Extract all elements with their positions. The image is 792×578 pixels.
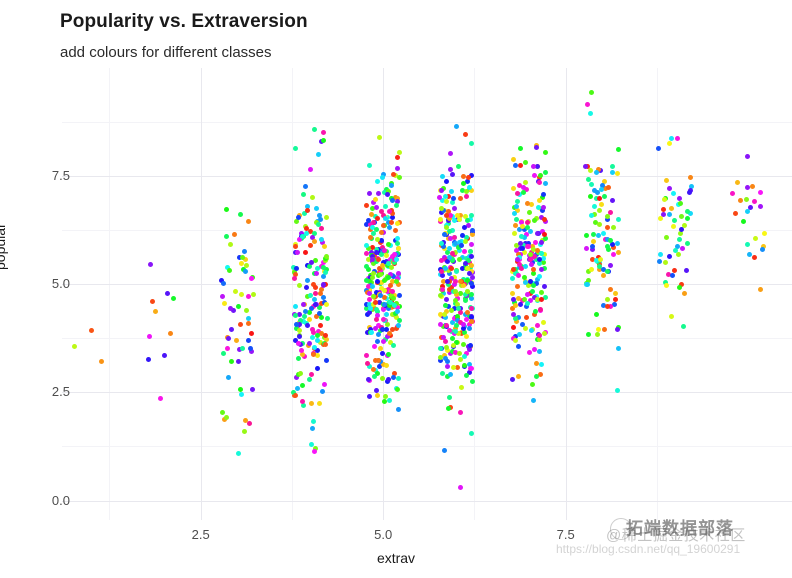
scatter-point — [324, 215, 329, 220]
scatter-point — [510, 291, 515, 296]
scatter-point — [664, 283, 669, 288]
scatter-point — [303, 250, 308, 255]
scatter-point — [543, 181, 548, 186]
scatter-point — [377, 135, 382, 140]
scatter-point — [298, 371, 303, 376]
scatter-point — [613, 291, 618, 296]
scatter-point — [307, 377, 312, 382]
scatter-point — [753, 236, 758, 241]
scatter-point — [610, 164, 615, 169]
scatter-point — [525, 301, 530, 306]
scatter-point — [397, 293, 402, 298]
scatter-point — [382, 288, 387, 293]
scatter-point — [445, 279, 450, 284]
scatter-point — [469, 431, 474, 436]
scatter-point — [758, 287, 763, 292]
scatter-point — [592, 188, 597, 193]
scatter-point — [324, 302, 329, 307]
scatter-point — [454, 269, 459, 274]
scatter-point — [605, 269, 610, 274]
scatter-point — [588, 194, 593, 199]
scatter-point — [608, 287, 613, 292]
scatter-point — [322, 244, 327, 249]
scatter-point — [238, 322, 243, 327]
scatter-point — [606, 185, 611, 190]
scatter-point — [376, 332, 381, 337]
scatter-point — [313, 291, 318, 296]
scatter-point — [388, 300, 393, 305]
scatter-point — [380, 175, 385, 180]
scatter-point — [459, 385, 464, 390]
scatter-point — [516, 374, 521, 379]
scatter-point — [317, 401, 322, 406]
scatter-point — [372, 374, 377, 379]
scatter-point — [524, 315, 529, 320]
scatter-point — [368, 306, 373, 311]
scatter-point — [309, 260, 314, 265]
scatter-point — [531, 283, 536, 288]
scatter-point — [384, 312, 389, 317]
scatter-point — [525, 244, 530, 249]
scatter-point — [386, 377, 391, 382]
scatter-point — [521, 185, 526, 190]
scatter-point — [672, 218, 677, 223]
scatter-point — [313, 302, 318, 307]
scatter-point — [616, 346, 621, 351]
scatter-point — [685, 216, 690, 221]
scatter-point — [395, 155, 400, 160]
scatter-point — [530, 382, 535, 387]
scatter-point — [539, 240, 544, 245]
scatter-point — [310, 327, 315, 332]
scatter-point — [537, 180, 542, 185]
scatter-point — [532, 218, 537, 223]
scatter-point — [469, 213, 474, 218]
scatter-point — [541, 192, 546, 197]
scatter-point — [226, 375, 231, 380]
scatter-point — [747, 252, 752, 257]
scatter-point — [443, 266, 448, 271]
scatter-point — [456, 306, 461, 311]
scatter-point — [444, 199, 449, 204]
scatter-point — [238, 387, 243, 392]
scatter-point — [512, 211, 517, 216]
scatter-point — [523, 326, 528, 331]
scatter-point — [295, 386, 300, 391]
scatter-point — [297, 283, 302, 288]
scatter-point — [523, 180, 528, 185]
scatter-point — [387, 398, 392, 403]
scatter-point — [452, 235, 457, 240]
scatter-point — [305, 208, 310, 213]
scatter-point — [397, 175, 402, 180]
scatter-point — [517, 332, 522, 337]
scatter-point — [465, 179, 470, 184]
scatter-point — [378, 293, 383, 298]
scatter-point — [597, 208, 602, 213]
scatter-point — [224, 234, 229, 239]
scatter-point — [469, 292, 474, 297]
scatter-point — [616, 217, 621, 222]
scatter-point — [243, 269, 248, 274]
scatter-point — [244, 308, 249, 313]
scatter-point — [450, 336, 455, 341]
scatter-point — [467, 326, 472, 331]
scatter-point — [368, 235, 373, 240]
scatter-point — [450, 172, 455, 177]
scatter-point — [610, 198, 615, 203]
scatter-point — [315, 353, 320, 358]
scatter-point — [518, 163, 523, 168]
scatter-point — [373, 300, 378, 305]
scatter-point — [246, 316, 251, 321]
scatter-point — [370, 284, 375, 289]
scatter-point — [514, 204, 519, 209]
scatter-point — [529, 328, 534, 333]
scatter-point — [382, 302, 387, 307]
scatter-point — [381, 339, 386, 344]
scatter-point — [380, 327, 385, 332]
scatter-point — [390, 198, 395, 203]
scatter-point — [684, 268, 689, 273]
scatter-point — [224, 415, 229, 420]
scatter-point — [168, 331, 173, 336]
scatter-point — [667, 212, 672, 217]
scatter-point — [391, 296, 396, 301]
scatter-points-layer — [62, 68, 792, 520]
scatter-point — [741, 219, 746, 224]
scatter-point — [511, 325, 516, 330]
scatter-point — [375, 393, 380, 398]
scatter-point — [539, 290, 544, 295]
scatter-point — [374, 205, 379, 210]
scatter-point — [670, 273, 675, 278]
scatter-point — [465, 266, 470, 271]
scatter-point — [730, 191, 735, 196]
scatter-point — [387, 225, 392, 230]
scatter-point — [236, 451, 241, 456]
scatter-point — [448, 372, 453, 377]
scatter-point — [588, 168, 593, 173]
scatter-point — [468, 343, 473, 348]
scatter-point — [679, 227, 684, 232]
scatter-point — [585, 282, 590, 287]
scatter-point — [520, 322, 525, 327]
scatter-point — [599, 187, 604, 192]
scatter-point — [312, 239, 317, 244]
scatter-point — [469, 141, 474, 146]
scatter-point — [394, 279, 399, 284]
scatter-point — [438, 322, 443, 327]
scatter-point — [534, 145, 539, 150]
scatter-point — [677, 237, 682, 242]
scatter-point — [537, 337, 542, 342]
x-tick-label: 5.0 — [353, 527, 413, 542]
scatter-point — [439, 258, 444, 263]
scatter-point — [300, 399, 305, 404]
scatter-point — [527, 210, 532, 215]
scatter-point — [469, 254, 474, 259]
scatter-point — [601, 231, 606, 236]
scatter-point — [321, 130, 326, 135]
scatter-point — [394, 257, 399, 262]
scatter-point — [594, 312, 599, 317]
scatter-point — [615, 327, 620, 332]
scatter-point — [589, 182, 594, 187]
x-axis-title: extrav — [0, 550, 792, 566]
scatter-point — [441, 335, 446, 340]
scatter-point — [309, 401, 314, 406]
scatter-point — [447, 255, 452, 260]
scatter-point — [760, 247, 765, 252]
scatter-point — [589, 213, 594, 218]
scatter-point — [313, 258, 318, 263]
scatter-point — [367, 310, 372, 315]
scatter-point — [374, 307, 379, 312]
scatter-point — [375, 237, 380, 242]
scatter-point — [389, 220, 394, 225]
scatter-point — [662, 197, 667, 202]
scatter-point — [250, 387, 255, 392]
scatter-point — [246, 321, 251, 326]
scatter-point — [685, 241, 690, 246]
scatter-point — [745, 185, 750, 190]
scatter-point — [444, 297, 449, 302]
scatter-point — [162, 353, 167, 358]
scatter-point — [758, 204, 763, 209]
scatter-point — [367, 191, 372, 196]
scatter-point — [297, 334, 302, 339]
scatter-point — [462, 249, 467, 254]
scatter-point — [523, 264, 528, 269]
scatter-point — [450, 200, 455, 205]
scatter-point — [518, 146, 523, 151]
scatter-point — [389, 183, 394, 188]
scatter-point — [378, 272, 383, 277]
scatter-point — [312, 127, 317, 132]
scatter-point — [599, 202, 604, 207]
scatter-point — [535, 231, 540, 236]
scatter-point — [678, 201, 683, 206]
scatter-point — [462, 225, 467, 230]
scatter-point — [449, 189, 454, 194]
scatter-point — [312, 449, 317, 454]
scatter-point — [380, 351, 385, 356]
scatter-point — [542, 217, 547, 222]
scatter-point — [388, 283, 393, 288]
scatter-point — [310, 195, 315, 200]
scatter-point — [371, 231, 376, 236]
scatter-point — [171, 296, 176, 301]
scatter-point — [238, 212, 243, 217]
scatter-point — [148, 262, 153, 267]
scatter-point — [324, 254, 329, 259]
scatter-point — [396, 323, 401, 328]
scatter-point — [589, 267, 594, 272]
scatter-point — [458, 485, 463, 490]
scatter-point — [537, 257, 542, 262]
scatter-point — [323, 270, 328, 275]
scatter-point — [605, 304, 610, 309]
scatter-point — [397, 318, 402, 323]
scatter-point — [515, 284, 520, 289]
scatter-point — [516, 273, 521, 278]
scatter-point — [315, 366, 320, 371]
scatter-point — [510, 377, 515, 382]
scatter-point — [531, 267, 536, 272]
scatter-point — [229, 327, 234, 332]
scatter-point — [669, 206, 674, 211]
scatter-point — [447, 395, 452, 400]
scatter-point — [369, 212, 374, 217]
scatter-point — [537, 333, 542, 338]
scatter-point — [72, 344, 77, 349]
scatter-point — [523, 280, 528, 285]
scatter-point — [584, 233, 589, 238]
scatter-point — [678, 231, 683, 236]
scatter-point — [611, 225, 616, 230]
scatter-point — [525, 220, 530, 225]
scatter-point — [458, 279, 463, 284]
scatter-point — [602, 327, 607, 332]
scatter-point — [249, 276, 254, 281]
scatter-point — [381, 317, 386, 322]
scatter-point — [667, 141, 672, 146]
scatter-point — [445, 359, 450, 364]
scatter-point — [451, 343, 456, 348]
scatter-point — [380, 263, 385, 268]
scatter-point — [681, 324, 686, 329]
scatter-point — [595, 332, 600, 337]
scatter-point — [667, 186, 672, 191]
scatter-point — [236, 304, 241, 309]
scatter-point — [521, 190, 526, 195]
scatter-point — [597, 222, 602, 227]
scatter-point — [615, 171, 620, 176]
scatter-point — [395, 236, 400, 241]
y-tick-label: 7.5 — [10, 168, 70, 183]
scatter-point — [658, 216, 663, 221]
scatter-point — [527, 350, 532, 355]
scatter-point — [457, 217, 462, 222]
scatter-point — [369, 330, 374, 335]
scatter-point — [447, 328, 452, 333]
scatter-point — [224, 207, 229, 212]
scatter-point — [374, 388, 379, 393]
scatter-point — [661, 212, 666, 217]
scatter-point — [452, 218, 457, 223]
scatter-point — [303, 184, 308, 189]
scatter-point — [322, 382, 327, 387]
scatter-point — [456, 164, 461, 169]
scatter-point — [367, 394, 372, 399]
plot-panel — [62, 68, 792, 520]
scatter-point — [680, 246, 685, 251]
scatter-point — [525, 225, 530, 230]
scatter-point — [657, 259, 662, 264]
scatter-point — [468, 249, 473, 254]
scatter-point — [464, 194, 469, 199]
scatter-point — [371, 271, 376, 276]
scatter-point — [442, 312, 447, 317]
scatter-point — [311, 352, 316, 357]
scatter-point — [305, 278, 310, 283]
scatter-point — [514, 217, 519, 222]
scatter-point — [586, 332, 591, 337]
scatter-point — [153, 309, 158, 314]
scatter-point — [613, 297, 618, 302]
scatter-point — [664, 178, 669, 183]
scatter-point — [543, 170, 548, 175]
scatter-point — [246, 338, 251, 343]
scatter-point — [233, 289, 238, 294]
scatter-point — [395, 221, 400, 226]
scatter-point — [539, 267, 544, 272]
scatter-point — [220, 294, 225, 299]
scatter-point — [676, 252, 681, 257]
scatter-point — [228, 306, 233, 311]
scatter-point — [220, 410, 225, 415]
scatter-point — [314, 206, 319, 211]
scatter-point — [308, 167, 313, 172]
scatter-point — [251, 292, 256, 297]
scatter-point — [146, 357, 151, 362]
scatter-point — [515, 199, 520, 204]
scatter-point — [594, 170, 599, 175]
scatter-point — [244, 263, 249, 268]
scatter-point — [605, 214, 610, 219]
scatter-point — [378, 346, 383, 351]
scatter-point — [538, 307, 543, 312]
scatter-point — [542, 284, 547, 289]
scatter-point — [292, 276, 297, 281]
scatter-point — [308, 243, 313, 248]
scatter-point — [469, 242, 474, 247]
scatter-point — [321, 274, 326, 279]
scatter-point — [519, 234, 524, 239]
scatter-point — [366, 377, 371, 382]
scatter-point — [453, 289, 458, 294]
scatter-point — [667, 254, 672, 259]
scatter-point — [239, 292, 244, 297]
scatter-point — [543, 150, 548, 155]
scatter-point — [605, 225, 610, 230]
scatter-point — [318, 323, 323, 328]
y-tick-label: 0.0 — [10, 493, 70, 508]
scatter-point — [395, 309, 400, 314]
scatter-point — [750, 184, 755, 189]
scatter-point — [677, 285, 682, 290]
scatter-point — [391, 172, 396, 177]
scatter-point — [221, 351, 226, 356]
scatter-point — [395, 166, 400, 171]
scatter-point — [240, 346, 245, 351]
scatter-point — [375, 179, 380, 184]
scatter-point — [534, 361, 539, 366]
scatter-point — [440, 371, 445, 376]
scatter-point — [518, 302, 523, 307]
scatter-point — [465, 289, 470, 294]
scatter-point — [687, 190, 692, 195]
y-tick-label: 5.0 — [10, 276, 70, 291]
scatter-point — [461, 342, 466, 347]
scatter-point — [325, 316, 330, 321]
scatter-point — [464, 334, 469, 339]
scatter-point — [745, 154, 750, 159]
scatter-point — [147, 334, 152, 339]
scatter-point — [396, 246, 401, 251]
scatter-point — [457, 257, 462, 262]
